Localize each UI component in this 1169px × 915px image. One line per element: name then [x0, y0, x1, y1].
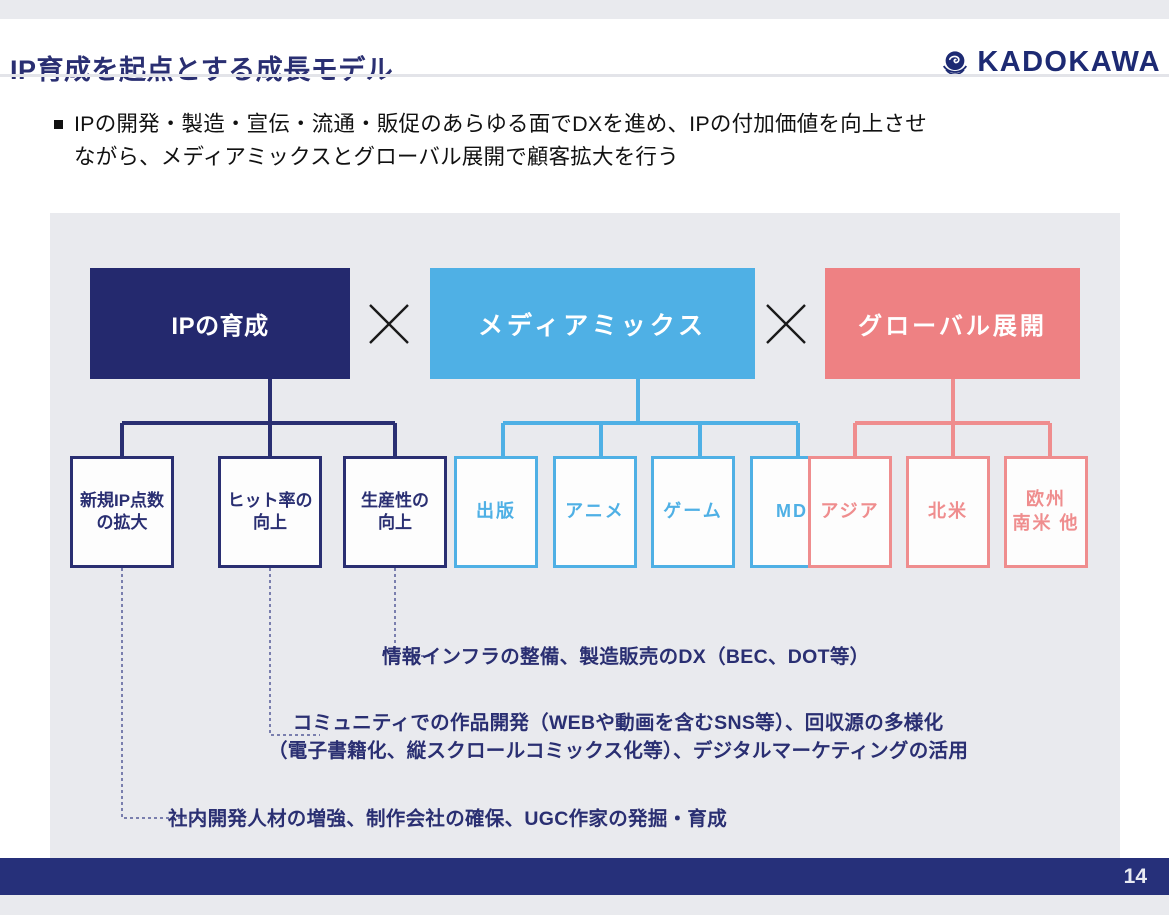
annotation-productivity: 情報インフラの整備、製造販売のDX（BEC、DOT等） [382, 643, 869, 671]
child-line-1: 出版 [476, 500, 516, 524]
multiply-operator-icon-1 [365, 300, 413, 348]
child-line-1: ヒット率の [228, 491, 313, 510]
bullet-text: IPの開発・製造・宣伝・流通・販促のあらゆる面でDXを進め、IPの付加価値を向上… [74, 108, 927, 175]
slide-footer: 14 [0, 858, 1169, 895]
child-box-north-america[interactable]: 北米 [906, 456, 990, 568]
pillar-title: メディアミックス [478, 306, 707, 342]
child-box-europe-south-america[interactable]: 欧州 南米 他 [1004, 456, 1088, 568]
annotation-new-ip: 社内開発人材の増強、制作会社の確保、UGC作家の発掘・育成 [168, 805, 727, 833]
bullet-paragraph: IPの開発・製造・宣伝・流通・販促のあらゆる面でDXを進め、IPの付加価値を向上… [54, 108, 1124, 175]
pillar-box-global[interactable]: グローバル展開 [825, 268, 1080, 379]
child-line-2: 向上 [253, 513, 287, 532]
page-title: IP育成を起点とする成長モデル [10, 48, 393, 87]
child-box-hit-rate[interactable]: ヒット率の 向上 [218, 456, 322, 568]
child-box-new-ip-count[interactable]: 新規IP点数 の拡大 [70, 456, 174, 568]
kadokawa-phoenix-emblem-icon [940, 48, 970, 78]
bottom-strip [0, 895, 1169, 915]
child-line-1: 欧州 [1026, 489, 1066, 509]
bullet-line-2: ながら、メディアミックスとグローバル展開で顧客拡大を行う [74, 145, 679, 169]
page-number: 14 [1124, 865, 1147, 889]
square-bullet-icon [54, 120, 63, 129]
child-line-2: の拡大 [97, 513, 148, 532]
growth-model-diagram: IPの育成 メディアミックス グローバル展開 新規IP点数 の拡大 [50, 213, 1120, 863]
child-box-anime[interactable]: アニメ [553, 456, 637, 568]
child-line-1: 新規IP点数 [80, 491, 164, 510]
bullet-line-1: IPの開発・製造・宣伝・流通・販促のあらゆる面でDXを進め、IPの付加価値を向上… [74, 112, 927, 136]
child-line-2: 向上 [378, 513, 412, 532]
child-line-1: アニメ [565, 500, 625, 524]
child-box-productivity[interactable]: 生産性の 向上 [343, 456, 447, 568]
child-box-game[interactable]: ゲーム [651, 456, 735, 568]
header-divider [0, 74, 1169, 77]
child-line-1: 北米 [928, 500, 968, 524]
slide-header: IP育成を起点とする成長モデル KADOKAWA [0, 19, 1169, 74]
pillar-title: IPの育成 [171, 306, 268, 341]
diagram-panel: IPの育成 メディアミックス グローバル展開 新規IP点数 の拡大 [50, 213, 1120, 863]
pillar-title: グローバル展開 [858, 306, 1047, 341]
annotation-hit-rate: コミュニティでの作品開発（WEBや動画を含むSNS等）、回収源の多様化 （電子書… [268, 709, 968, 766]
child-box-asia[interactable]: アジア [808, 456, 892, 568]
pillar-box-media-mix[interactable]: メディアミックス [430, 268, 755, 379]
pillar-box-ip-ikusei[interactable]: IPの育成 [90, 268, 350, 379]
annotation-line-1: 情報インフラの整備、製造販売のDX（BEC、DOT等） [382, 646, 869, 668]
slide: IP育成を起点とする成長モデル KADOKAWA IPの開発・製造・宣伝・流通・… [0, 0, 1169, 915]
child-line-1: MD [776, 500, 808, 524]
annotation-line-1: 社内開発人材の増強、制作会社の確保、UGC作家の発掘・育成 [168, 808, 727, 830]
annotation-line-1: コミュニティでの作品開発（WEBや動画を含むSNS等）、回収源の多様化 [293, 712, 944, 734]
top-strip [0, 0, 1169, 19]
annotation-line-2: （電子書籍化、縦スクロールコミックス化等）、デジタルマーケティングの活用 [268, 740, 968, 762]
child-line-1: ゲーム [663, 500, 722, 524]
child-line-2: 南米 他 [1012, 513, 1079, 533]
child-line-1: アジア [820, 500, 879, 524]
child-box-publishing[interactable]: 出版 [454, 456, 538, 568]
child-line-1: 生産性の [361, 491, 429, 510]
multiply-operator-icon-2 [762, 300, 810, 348]
